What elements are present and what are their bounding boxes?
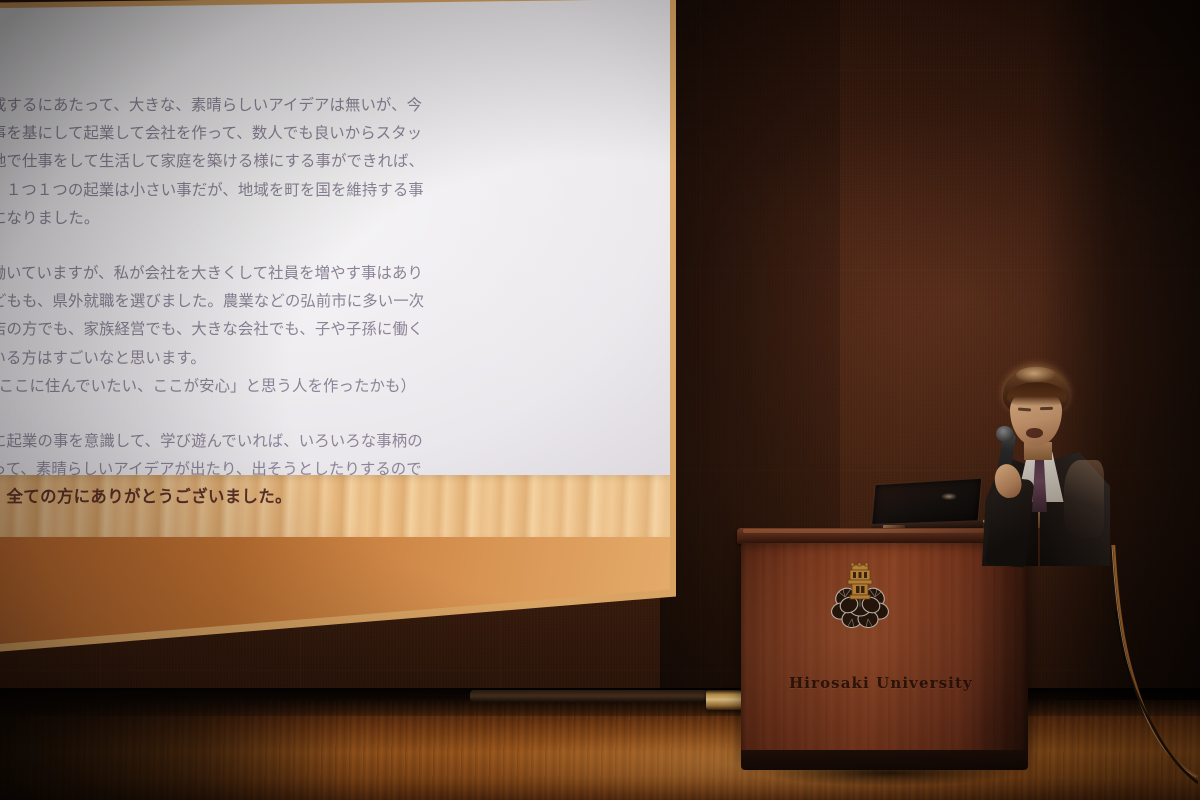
projection-screen: を作成するにあたって、大きな、素晴らしいアイデアは無いが、今 きた事を基にして起…	[0, 0, 676, 662]
slide-line: きた事を基にして起業して会社を作って、数人でも良いからスタッ	[0, 119, 520, 147]
slide-paragraph: して働いていますが、私が会社を大きくして社員を増やす事はあり の子どもも、県外就…	[0, 259, 520, 400]
slide-line: の様に起業の事を意識して、学び遊んでいれば、いろいろな事柄の	[0, 427, 520, 455]
slide-text-block: を作成するにあたって、大きな、素晴らしいアイデアは無いが、今 きた事を基にして起…	[0, 91, 520, 512]
presenter-mouth	[1026, 428, 1043, 438]
slide-line: して働いていますが、私が会社を大きくして社員を増やす事はあり	[0, 259, 520, 287]
lectern-base	[741, 750, 1028, 770]
projected-slide: を作成するにあたって、大きな、素晴らしいアイデアは無いが、今 きた事を基にして起…	[0, 0, 670, 655]
lecture-hall-scene: を作成するにあたって、大きな、素晴らしいアイデアは無いが、今 きた事を基にして起…	[0, 0, 1200, 800]
slide-paragraph: を作成するにあたって、大きな、素晴らしいアイデアは無いが、今 きた事を基にして起…	[0, 91, 520, 232]
slide-line: なお店の方でも、家族経営でも、大きな会社でも、子や子孫に働く	[0, 315, 520, 343]
slide-closing-thanks: 全ての方にありがとうございました。	[6, 487, 291, 506]
stage-edge-rail	[470, 690, 710, 702]
slide-line: を作成するにあたって、大きな、素晴らしいアイデアは無いが、今	[0, 91, 520, 119]
lectern-side-shadow	[964, 543, 1028, 758]
presenter	[960, 360, 1130, 560]
slide-line: の子どもも、県外就職を選びました。農業などの弘前市に多い一次	[0, 287, 520, 315]
stage-floor-dark-area	[0, 692, 360, 800]
slide-line: 変わって、素晴らしいアイデアが出たり、出そうとしたりするので	[0, 455, 520, 483]
presenter-eye-right	[1040, 407, 1053, 410]
slide-line: している方はすごいなと思います。	[0, 344, 520, 372]
lectern-nameplate: Hirosaki University	[789, 674, 989, 692]
slide-line: この地で仕事をして生活して家庭を築ける様にする事ができれば、	[0, 147, 520, 175]
laptop-screen-glint	[941, 493, 957, 500]
presenter-jacket-highlight	[1064, 460, 1104, 538]
slide-line: る様になりました。	[0, 204, 520, 232]
floor-cable	[1100, 545, 1198, 795]
slide-line: が、「ここに住んでいたい、ここが安心」と思う人を作ったかも）	[0, 372, 520, 400]
slide-line: 事で、１つ１つの起業は小さい事だが、地域を町を国を維持する事	[0, 176, 520, 204]
slide-closing-line: した。全ての方にありがとうございました。	[0, 483, 520, 511]
presenter-hair-highlight	[1016, 367, 1056, 383]
university-crest-icon	[829, 561, 891, 629]
slide-paragraph: の様に起業の事を意識して、学び遊んでいれば、いろいろな事柄の 変わって、素晴らし…	[0, 427, 520, 512]
